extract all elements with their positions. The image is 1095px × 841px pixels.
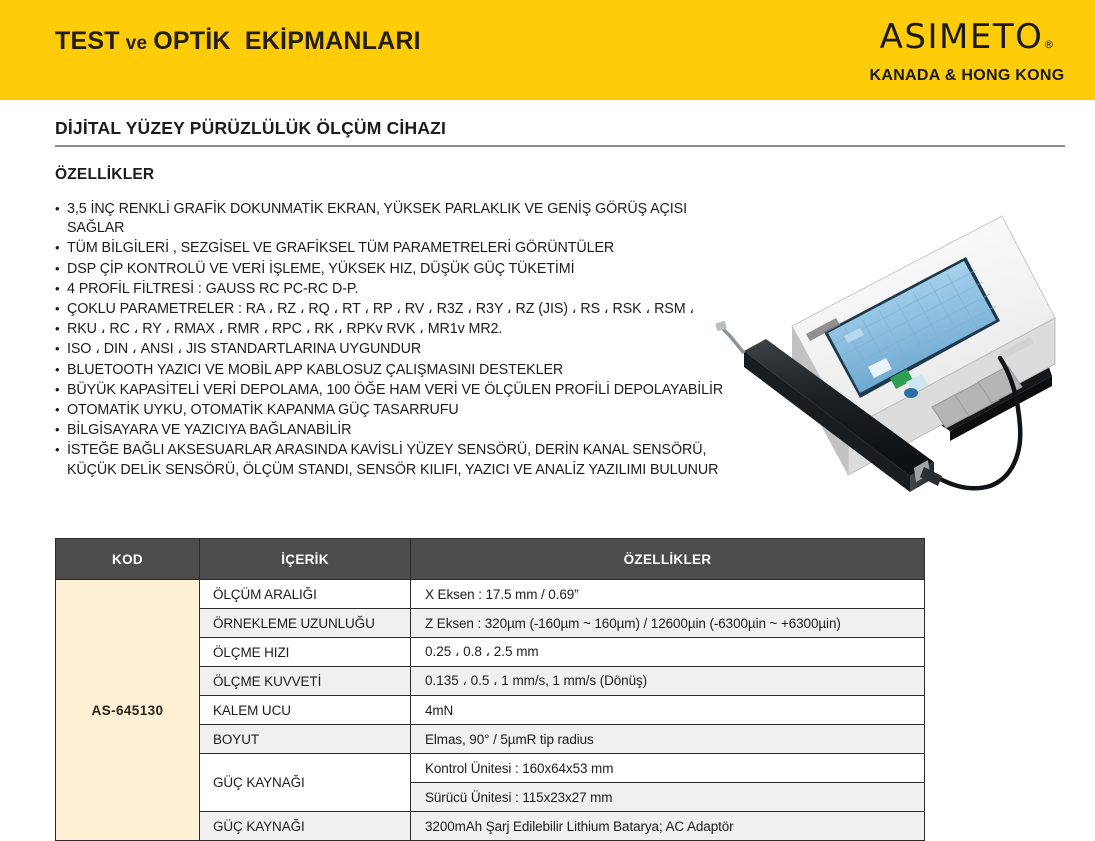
feature-item: BÜYÜK KAPASİTELİ VERİ DEPOLAMA, 100 ÖĞE … bbox=[55, 381, 735, 400]
title-divider bbox=[55, 145, 1065, 147]
banner-title-part-2: OPTİK EKİPMANLARI bbox=[153, 27, 421, 55]
brand-logo: ASIMETO® KANADA & HONG KONG bbox=[867, 20, 1067, 85]
feature-item: DSP ÇİP KONTROLÜ VE VERİ İŞLEME, YÜKSEK … bbox=[55, 260, 735, 279]
product-photo bbox=[700, 186, 1095, 521]
features-heading: ÖZELLİKLER bbox=[55, 166, 154, 184]
banner-title-part-1: TEST bbox=[55, 27, 120, 55]
feature-item: RKU ، RC ، RY ، RMAX ، RMR ، RPC ، RK ، … bbox=[55, 320, 735, 339]
feature-item: 3,5 İNÇ RENKLİ GRAFİK DOKUNMATİK EKRAN, … bbox=[55, 200, 735, 238]
column-header-icerik: İÇERİK bbox=[200, 539, 411, 580]
brand-logo-subtitle: KANADA & HONG KONG bbox=[867, 67, 1067, 85]
feature-item: İSTEĞE BAĞLI AKSESUARLAR ARASINDA KAVİSL… bbox=[55, 441, 735, 479]
spec-value: 0.25 ، 0.8 ، 2.5 mm bbox=[411, 638, 925, 667]
brand-logo-wordmark: ASIMETO® bbox=[867, 20, 1067, 54]
spec-value: 0.135 ، 0.5 ، 1 mm/s, 1 mm/s (Dönüş) bbox=[411, 667, 925, 696]
screen-icon-dial bbox=[904, 388, 918, 398]
column-header-ozellikler: ÖZELLİKLER bbox=[411, 539, 925, 580]
spec-label: ÖLÇME HIZI bbox=[200, 638, 411, 667]
spec-label: GÜÇ KAYNAĞI bbox=[200, 812, 411, 841]
product-code-cell: AS-645130 bbox=[56, 580, 200, 841]
feature-item: OTOMATİK UYKU, OTOMATİK KAPANMA GÜÇ TASA… bbox=[55, 401, 735, 420]
spec-label: ÖLÇÜM ARALIĞI bbox=[200, 580, 411, 609]
feature-item: 4 PROFİL FİLTRESİ : GAUSS RC PC-RC D-P. bbox=[55, 280, 735, 299]
feature-item: BİLGİSAYARA VE YAZICIYA BAĞLANABİLİR bbox=[55, 421, 735, 440]
brand-logo-name: ASIMETO bbox=[880, 17, 1044, 57]
column-header-kod: KOD bbox=[56, 539, 200, 580]
spec-value: 3200mAh Şarj Edilebilir Lithium Batarya;… bbox=[411, 812, 925, 841]
spec-value: Kontrol Ünitesi : 160x64x53 mm bbox=[411, 754, 925, 783]
feature-item: ISO ، DIN ، ANSI ، JIS STANDARTLARINA UY… bbox=[55, 340, 735, 359]
feature-item: ÇOKLU PARAMETRELER : RA ، RZ ، RQ ، RT ،… bbox=[55, 300, 735, 319]
product-title: DİJİTAL YÜZEY PÜRÜZLÜLÜK ÖLÇÜM CİHAZI bbox=[55, 118, 446, 139]
spec-label: ÖRNEKLEME UZUNLUĞU bbox=[200, 609, 411, 638]
spec-value: Sürücü Ünitesi : 115x23x27 mm bbox=[411, 783, 925, 812]
feature-item: TÜM BİLGİLERİ , SEZGİSEL VE GRAFİKSEL TÜ… bbox=[55, 239, 735, 258]
banner-title-connector: ve bbox=[126, 33, 148, 54]
page-header-banner: TESTveOPTİK EKİPMANLARI ASIMETO® KANADA … bbox=[0, 0, 1095, 100]
spec-value: 4mN bbox=[411, 696, 925, 725]
spec-label: GÜÇ KAYNAĞI bbox=[200, 754, 411, 812]
table-row: AS-645130 ÖLÇÜM ARALIĞI X Eksen : 17.5 m… bbox=[56, 580, 925, 609]
spec-value: Z Eksen : 320µm (-160µm ~ 160µm) / 12600… bbox=[411, 609, 925, 638]
probe-stylus-arm bbox=[723, 329, 744, 353]
spec-value: Elmas, 90° / 5µmR tip radius bbox=[411, 725, 925, 754]
spec-label: ÖLÇME KUVVETİ bbox=[200, 667, 411, 696]
table-header-row: KOD İÇERİK ÖZELLİKLER bbox=[56, 539, 925, 580]
banner-title: TESTveOPTİK EKİPMANLARI bbox=[55, 27, 421, 56]
registered-trademark-icon: ® bbox=[1043, 38, 1054, 51]
spec-label: BOYUT bbox=[200, 725, 411, 754]
spec-value: X Eksen : 17.5 mm / 0.69” bbox=[411, 580, 925, 609]
product-photo-illustration bbox=[700, 186, 1095, 521]
feature-item: BLUETOOTH YAZICI VE MOBİL APP KABLOSUZ Ç… bbox=[55, 361, 735, 380]
specifications-table: KOD İÇERİK ÖZELLİKLER AS-645130 ÖLÇÜM AR… bbox=[55, 538, 925, 841]
spec-label: KALEM UCU bbox=[200, 696, 411, 725]
features-list: 3,5 İNÇ RENKLİ GRAFİK DOKUNMATİK EKRAN, … bbox=[55, 200, 735, 481]
